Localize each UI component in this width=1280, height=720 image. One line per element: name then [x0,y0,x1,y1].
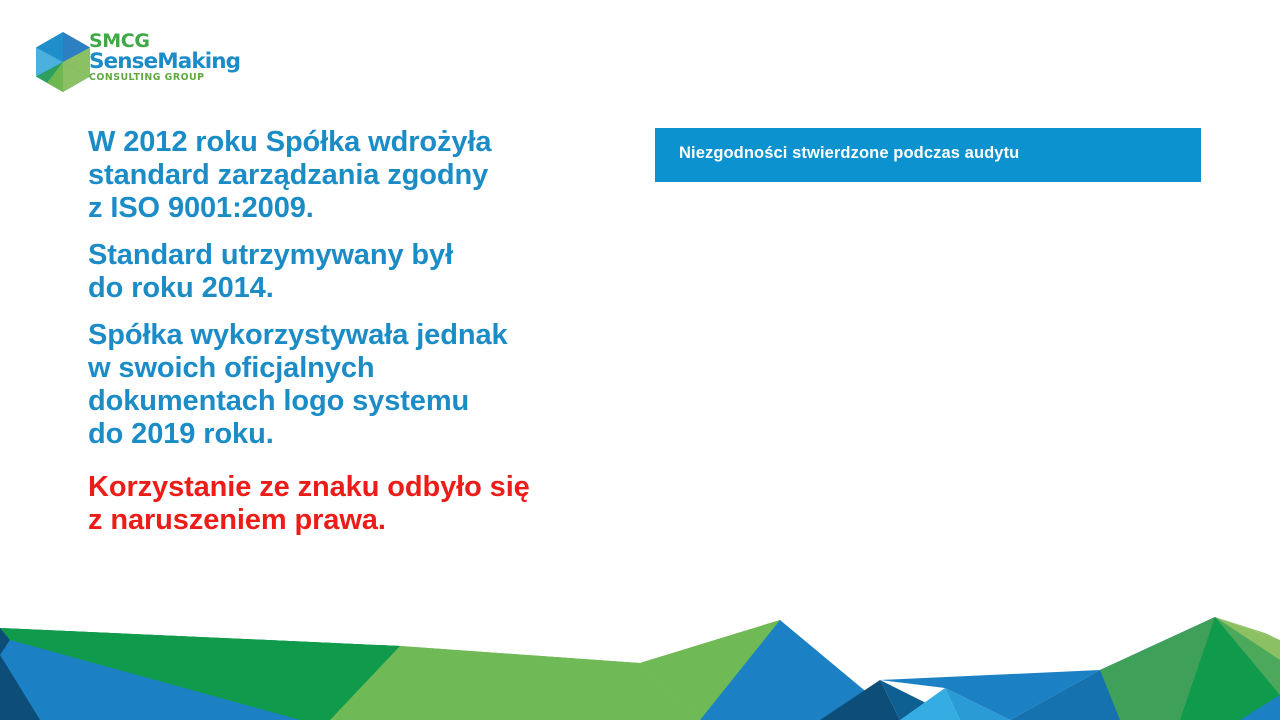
body-paragraph-4-warning: Korzystanie ze znaku odbyło się z narusz… [88,471,628,537]
body-paragraph-2: Standard utrzymywany był do roku 2014. [88,239,628,305]
smcg-hexagon-logo-mark-icon [33,31,93,93]
logo-line-sensemaking: SenseMaking [89,51,234,72]
slide-canvas: SMCG SenseMaking CONSULTING GROUP W 2012… [0,0,1280,720]
section-header-banner: Niezgodności stwierdzone podczas audytu [655,128,1201,182]
body-paragraph-1: W 2012 roku Spółka wdrożyła standard zar… [88,126,628,225]
smcg-logo-wordmark: SMCG SenseMaking CONSULTING GROUP [89,32,234,90]
section-header-label: Niezgodności stwierdzone podczas audytu [679,144,1019,163]
body-paragraph-3: Spółka wykorzystywała jednak w swoich of… [88,319,628,451]
smcg-logo: SMCG SenseMaking CONSULTING GROUP [33,31,233,93]
bottom-polygon-ribbon [0,560,1280,720]
body-text-column: W 2012 roku Spółka wdrożyła standard zar… [88,126,628,537]
